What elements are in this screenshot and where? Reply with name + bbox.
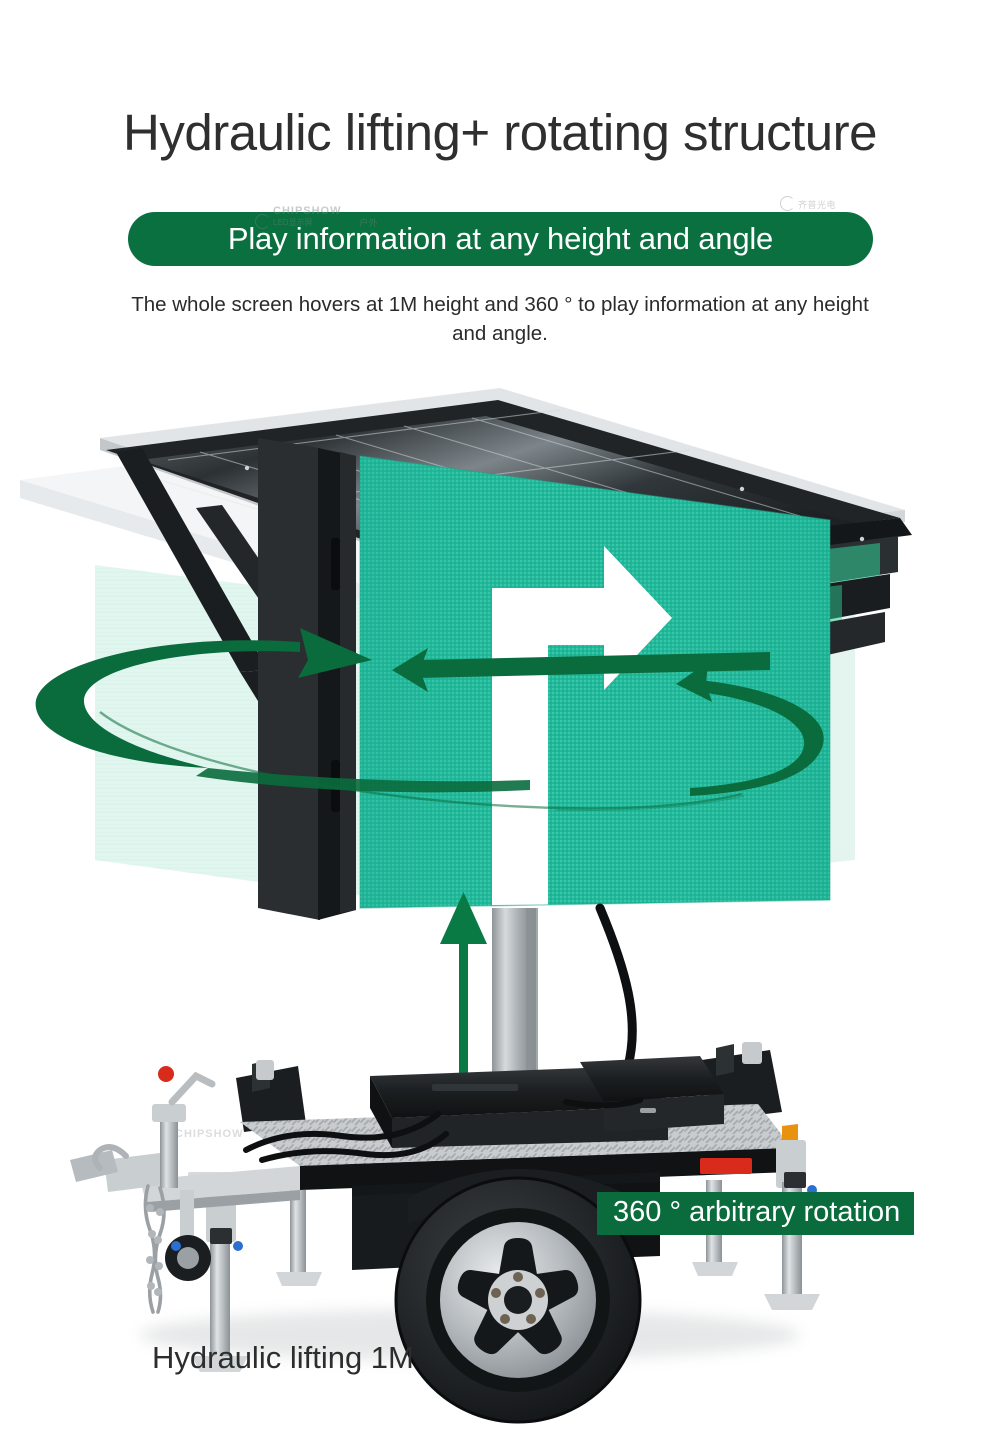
watermark-ring-icon: [780, 196, 795, 211]
page-title: Hydraulic lifting+ rotating structure: [0, 103, 1000, 162]
watermark-cn-brand: 齐普光电: [798, 200, 836, 210]
page-subtitle: The whole screen hovers at 1M height and…: [130, 290, 870, 348]
rotation-label: 360 ° arbitrary rotation: [597, 1192, 914, 1235]
led-display-panel: [258, 438, 830, 920]
highlight-banner: Play information at any height and angle: [128, 212, 873, 266]
crank-knob: [158, 1066, 174, 1082]
lifting-label: Hydraulic lifting 1M: [152, 1340, 414, 1376]
product-illustration: 360 ° arbitrary rotation Hydraulic lifti…: [0, 360, 1000, 1450]
rear-reflector: [700, 1158, 752, 1174]
highlight-banner-label: Play information at any height and angle: [228, 221, 773, 257]
poster-root: Hydraulic lifting+ rotating structure Pl…: [0, 0, 1000, 1450]
product-scene-svg: [0, 360, 1000, 1450]
watermark-logo: 齐普光电: [780, 196, 836, 211]
